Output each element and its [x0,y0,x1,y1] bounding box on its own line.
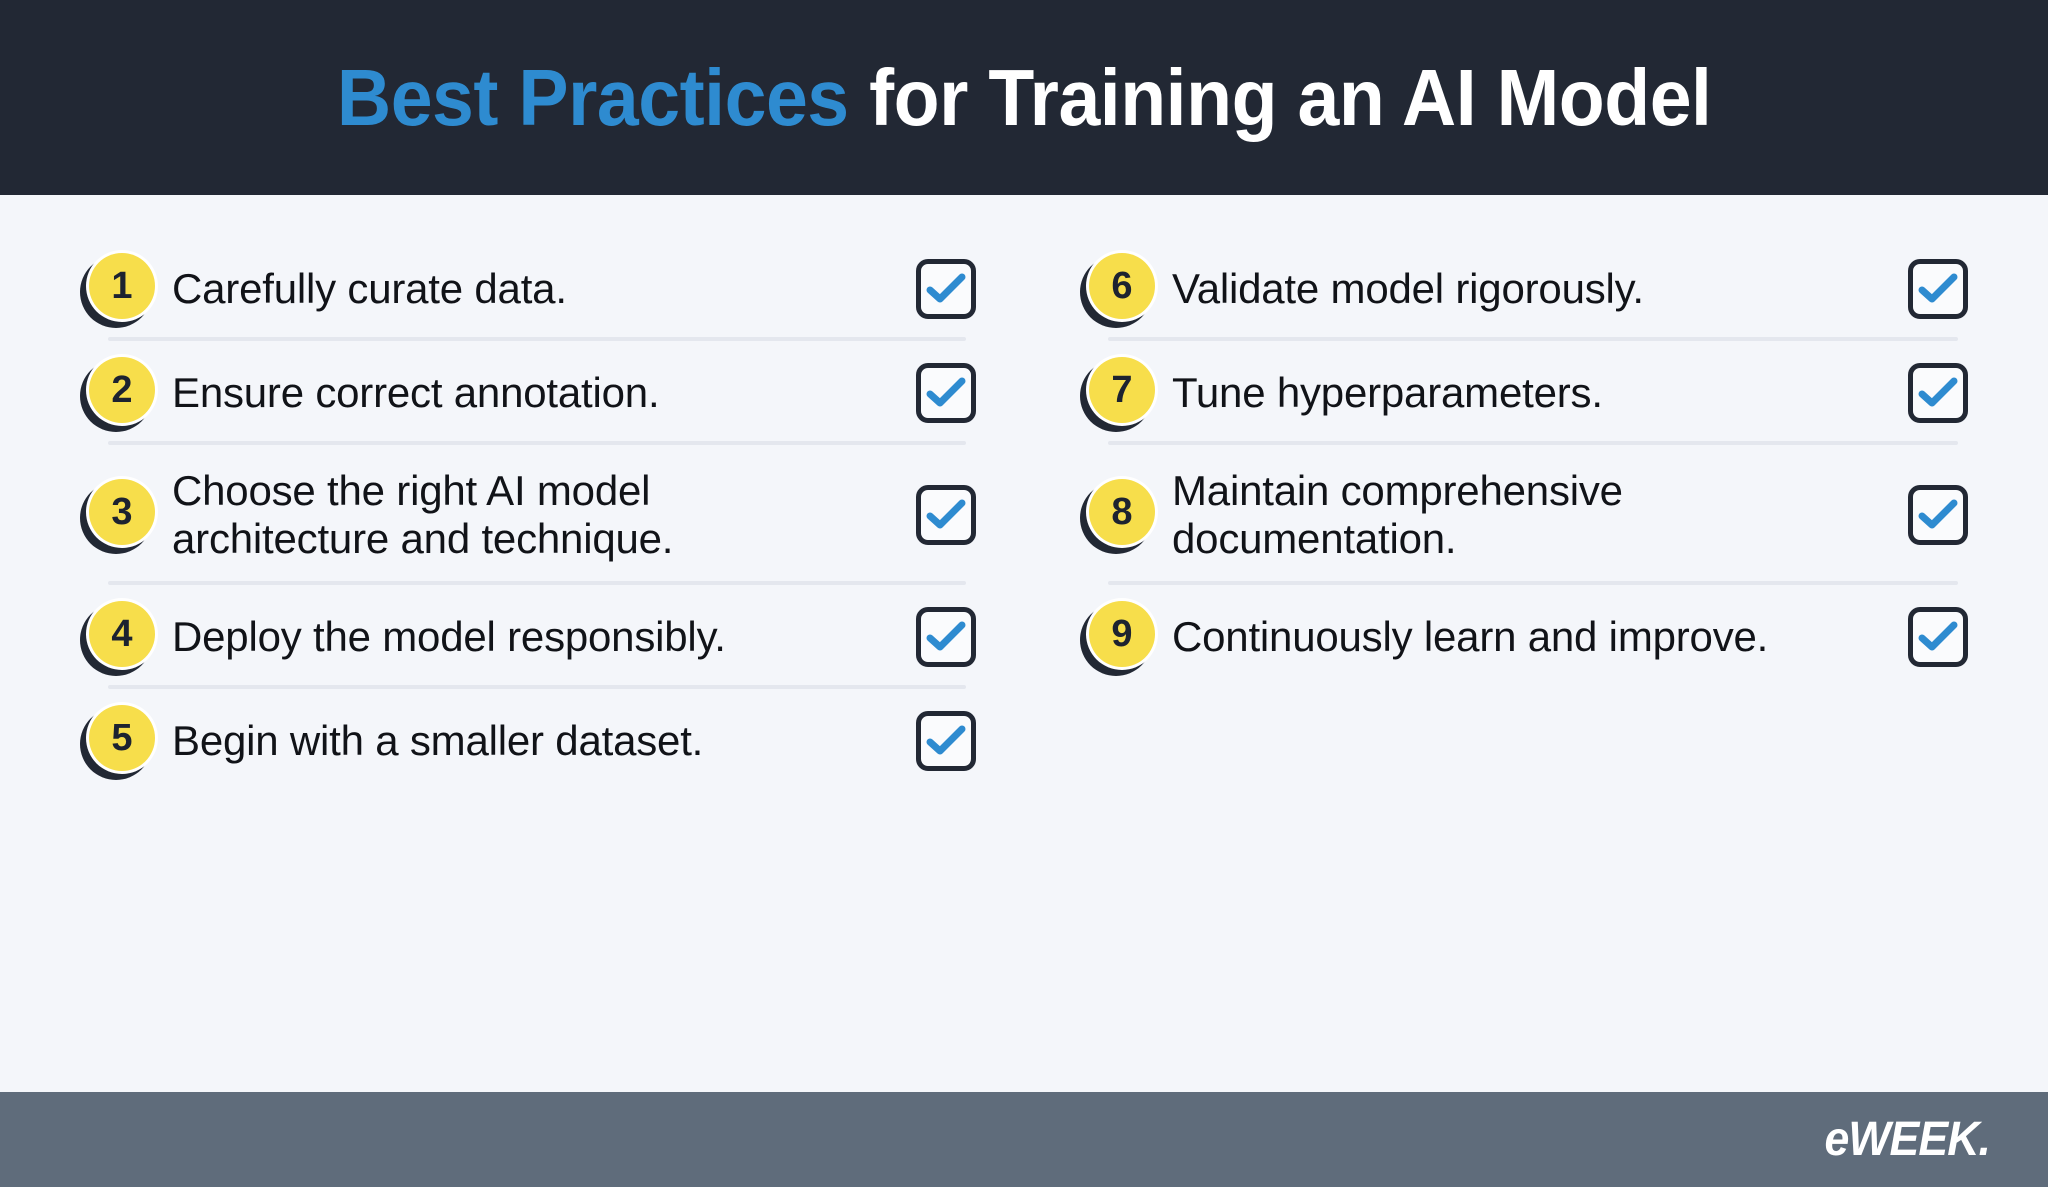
checklist-row[interactable]: 3Choose the right AI modelarchitecture a… [80,445,976,585]
checklist-item-line: Continuously learn and improve. [1172,613,1892,661]
checklist-item-line: Carefully curate data. [172,265,900,313]
badge-number: 9 [1089,601,1155,667]
infographic-root: Best Practices for Training an AI Model … [0,0,2048,1187]
checklist-item-line: architecture and technique. [172,515,900,563]
checklist-row[interactable]: 7Tune hyperparameters. [1080,341,1968,445]
checkbox-checked[interactable] [916,711,976,771]
check-icon [926,620,966,654]
eweek-logo: eWEEK. [1824,1116,1990,1164]
step-number-badge: 6 [1080,250,1158,328]
step-number-badge: 9 [1080,598,1158,676]
check-icon [1918,620,1958,654]
checkbox-checked[interactable] [916,363,976,423]
checkbox-checked[interactable] [916,259,976,319]
checklist-item-label: Deploy the model responsibly. [172,613,916,661]
checklist-row[interactable]: 1Carefully curate data. [80,237,976,341]
checklist-item-label: Tune hyperparameters. [1172,369,1908,417]
footer-bar: eWEEK. [0,1092,2048,1187]
checklist-item-line: documentation. [1172,515,1892,563]
checklist-item-line: Ensure correct annotation. [172,369,900,417]
check-icon [926,376,966,410]
checklist-item-line: Deploy the model responsibly. [172,613,900,661]
checklist-column-right: 6Validate model rigorously.7Tune hyperpa… [1024,195,1968,1092]
badge-number: 8 [1089,479,1155,545]
check-icon [1918,376,1958,410]
checklist-row[interactable]: 2Ensure correct annotation. [80,341,976,445]
page-title-rest: for Training an AI Model [848,53,1711,142]
checklist-row[interactable]: 6Validate model rigorously. [1080,237,1968,341]
checklist-row[interactable]: 8Maintain comprehensivedocumentation. [1080,445,1968,585]
check-icon [1918,272,1958,306]
badge-number: 4 [89,601,155,667]
step-number-badge: 3 [80,476,158,554]
checklist-item-label: Ensure correct annotation. [172,369,916,417]
check-icon [926,724,966,758]
badge-number: 5 [89,705,155,771]
badge-number: 3 [89,479,155,545]
badge-number: 2 [89,357,155,423]
badge-number: 1 [89,253,155,319]
checkbox-checked[interactable] [1908,259,1968,319]
checkbox-checked[interactable] [1908,485,1968,545]
checkbox-checked[interactable] [1908,607,1968,667]
step-number-badge: 2 [80,354,158,432]
checklist-row[interactable]: 4Deploy the model responsibly. [80,585,976,689]
checklist-item-label: Begin with a smaller dataset. [172,717,916,765]
check-icon [926,498,966,532]
checkbox-checked[interactable] [916,607,976,667]
checklist-item-label: Carefully curate data. [172,265,916,313]
header-bar: Best Practices for Training an AI Model [0,0,2048,195]
check-icon [926,272,966,306]
checklist-row[interactable]: 9Continuously learn and improve. [1080,585,1968,689]
badge-number: 6 [1089,253,1155,319]
step-number-badge: 7 [1080,354,1158,432]
checklist-board: 1Carefully curate data.2Ensure correct a… [0,195,2048,1092]
checklist-item-line: Begin with a smaller dataset. [172,717,900,765]
step-number-badge: 4 [80,598,158,676]
checklist-item-label: Choose the right AI modelarchitecture an… [172,467,916,563]
checklist-item-label: Validate model rigorously. [1172,265,1908,313]
checkbox-checked[interactable] [1908,363,1968,423]
step-number-badge: 5 [80,702,158,780]
checklist-item-label: Maintain comprehensivedocumentation. [1172,467,1908,563]
page-title-accent: Best Practices [337,53,849,142]
checklist-column-left: 1Carefully curate data.2Ensure correct a… [80,195,1024,1092]
checklist-item-label: Continuously learn and improve. [1172,613,1908,661]
checklist-row[interactable]: 5Begin with a smaller dataset. [80,689,976,793]
badge-number: 7 [1089,357,1155,423]
check-icon [1918,498,1958,532]
step-number-badge: 1 [80,250,158,328]
checklist-item-line: Maintain comprehensive [1172,467,1892,515]
step-number-badge: 8 [1080,476,1158,554]
page-title: Best Practices for Training an AI Model [337,58,1712,138]
checkbox-checked[interactable] [916,485,976,545]
checklist-item-line: Choose the right AI model [172,467,900,515]
checklist-item-line: Validate model rigorously. [1172,265,1892,313]
checklist-item-line: Tune hyperparameters. [1172,369,1892,417]
